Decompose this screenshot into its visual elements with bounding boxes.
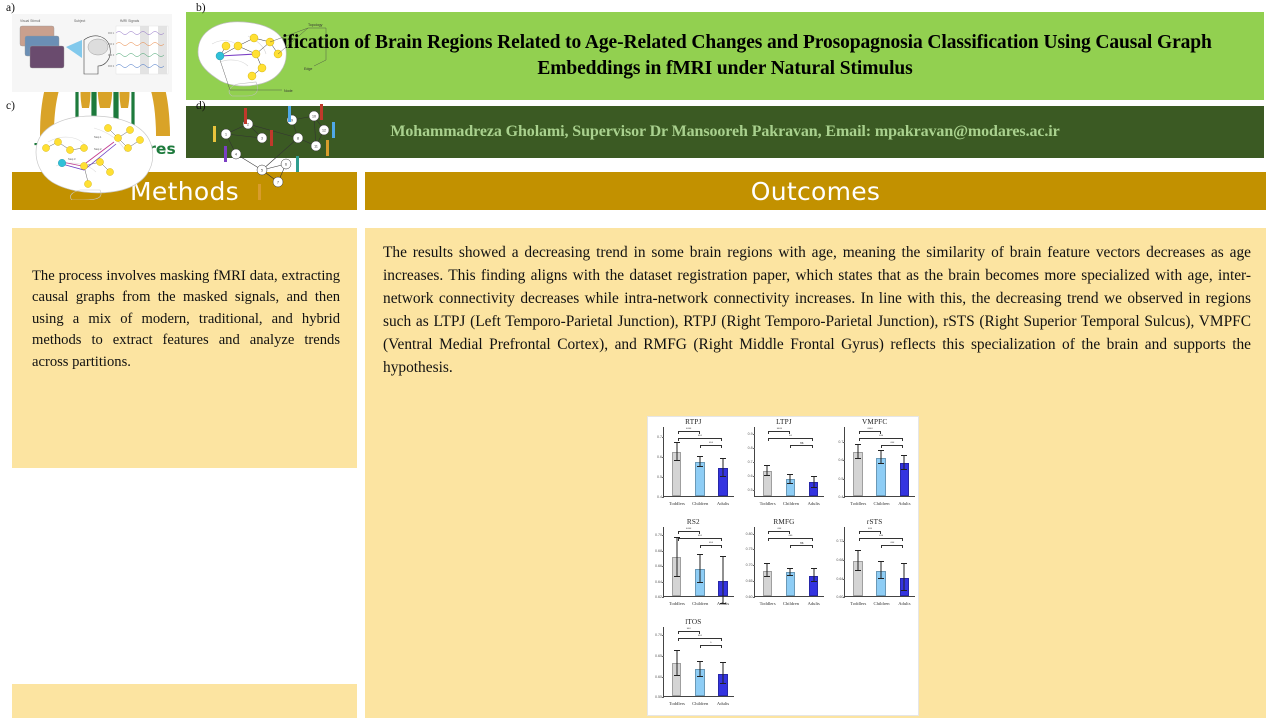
chart-panel-title: LTPJ [740, 419, 829, 426]
y-tick-label: 0.8 [748, 446, 753, 450]
y-tick-label: 0.70 [655, 533, 662, 537]
x-axis [754, 596, 825, 597]
x-tick-label: Children [783, 601, 798, 606]
y-tick-label: 0.4 [838, 495, 843, 499]
significance-bracket [768, 431, 790, 434]
svg-text:ROI 3: ROI 3 [108, 54, 115, 57]
y-tick-label: 0.7 [748, 460, 753, 464]
error-bar [676, 443, 677, 461]
significance-label: *** [879, 534, 883, 538]
x-axis [844, 496, 915, 497]
x-tick-label: Children [783, 501, 798, 506]
error-bar [904, 456, 905, 471]
error-cap-top [720, 556, 726, 557]
svg-text:3: 3 [261, 136, 263, 140]
significance-bracket [678, 531, 700, 534]
poster-canvas: Tarbiat Modares University Identificatio… [0, 0, 1280, 720]
error-cap-bottom [878, 578, 884, 579]
chart-panel-title: lTOS [649, 619, 738, 626]
svg-text:11: 11 [314, 144, 318, 148]
y-tick-label: 0.6 [657, 455, 662, 459]
error-cap-top [697, 554, 703, 555]
x-axis [844, 596, 915, 597]
error-bar [723, 663, 724, 684]
significance-bracket [678, 638, 723, 641]
y-tick-label: 0.72 [836, 539, 843, 543]
x-tick-label: Adults [806, 601, 821, 606]
significance-bracket [768, 538, 813, 541]
chart-panel-empty [829, 617, 920, 717]
error-cap-top [878, 561, 884, 562]
methods-figure-b-node-label: Node [284, 89, 293, 93]
error-cap-top [674, 442, 680, 443]
svg-text:Subject: Subject [74, 19, 85, 23]
error-cap-bottom [811, 487, 817, 488]
svg-text:ROI 2: ROI 2 [108, 43, 115, 46]
x-axis [754, 496, 825, 497]
bar-rect [695, 462, 704, 496]
y-tick-label: 0.62 [655, 595, 662, 599]
error-cap-top [720, 662, 726, 663]
x-tick-label: Adults [715, 701, 730, 706]
y-tick-label: 0.60 [746, 595, 753, 599]
y-tick-label: 0.70 [746, 563, 753, 567]
y-tick-label: 0.9 [748, 432, 753, 436]
significance-bracket [881, 445, 903, 448]
error-cap-top [878, 450, 884, 451]
y-tick-label: 0.66 [655, 564, 662, 568]
y-axis [754, 527, 755, 597]
significance-bracket [790, 445, 812, 448]
error-bar [699, 662, 700, 677]
error-cap-bottom [697, 676, 703, 677]
x-tick-label: Adults [897, 501, 912, 506]
error-cap-top [901, 455, 907, 456]
significance-label: * [710, 641, 711, 645]
methods-figure-b-topology-label: Topology [308, 23, 323, 27]
svg-text:ROI 1: ROI 1 [108, 32, 115, 35]
error-cap-bottom [901, 469, 907, 470]
significance-label: *** [789, 534, 793, 538]
y-tick-label: 0.6 [838, 458, 843, 462]
error-cap-bottom [697, 466, 703, 467]
svg-text:1: 1 [225, 132, 227, 136]
chart-x-labels: ToddlersChildrenAdults [846, 501, 916, 506]
methods-figure-c-step2-label: Step 2 [94, 147, 102, 151]
y-tick-label: 0.5 [838, 477, 843, 481]
error-bar [857, 551, 858, 572]
significance-label: *** [698, 634, 702, 638]
error-cap-top [764, 563, 770, 564]
y-tick-label: 0.68 [655, 549, 662, 553]
y-tick-label: 0.64 [655, 580, 662, 584]
significance-label: **** [867, 427, 872, 431]
svg-text:7: 7 [277, 180, 279, 184]
y-tick-label: 0.75 [746, 547, 753, 551]
methods-figure-label-c: c) [6, 100, 15, 112]
error-bar [904, 564, 905, 590]
significance-label: **** [686, 527, 691, 531]
svg-text:5: 5 [261, 168, 263, 172]
x-tick-label: Adults [715, 601, 730, 606]
y-tick-label: 0.6 [748, 474, 753, 478]
methods-bottom-panel [12, 684, 357, 718]
chart-panel-vmpfc: VMPFC0.40.50.60.7**********ToddlersChild… [829, 417, 920, 517]
x-tick-label: Toddlers [669, 601, 684, 606]
chart-x-labels: ToddlersChildrenAdults [665, 501, 735, 506]
chart-plot-area: 0.600.650.700.750.80******nsToddlersChil… [740, 527, 829, 597]
significance-bracket [881, 545, 903, 548]
significance-label: *** [890, 541, 894, 545]
y-tick-label: 0.5 [657, 475, 662, 479]
x-tick-label: Adults [897, 601, 912, 606]
significance-bracket [859, 531, 881, 534]
poster-authors: Mohammadreza Gholami, Supervisor Dr Mans… [390, 123, 1059, 141]
chart-panel-title: RMFG [740, 519, 829, 526]
significance-label: *** [709, 541, 713, 545]
significance-bracket [859, 438, 904, 441]
significance-label: *** [879, 434, 883, 438]
y-tick-label: 0.4 [657, 495, 662, 499]
y-tick-label: 0.60 [655, 675, 662, 679]
significance-bracket [678, 631, 700, 634]
error-cap-bottom [720, 683, 726, 684]
methods-figure-b-edge-label: Edge [304, 67, 312, 71]
y-axis [663, 527, 664, 597]
methods-figure-c-step1-label: Step 1 [94, 135, 102, 139]
error-cap-bottom [697, 582, 703, 583]
x-axis [663, 496, 734, 497]
significance-label: ns [800, 541, 804, 545]
chart-panel-title: RS2 [649, 519, 738, 526]
methods-body-text: The process involves masking fMRI data, … [32, 266, 340, 373]
x-tick-label: Toddlers [850, 601, 865, 606]
error-cap-bottom [878, 463, 884, 464]
chart-panel-title: rSTS [830, 519, 919, 526]
y-tick-label: 0.65 [746, 579, 753, 583]
error-cap-top [674, 650, 680, 651]
poster-title-bar: Identification of Brain Regions Related … [186, 12, 1264, 100]
y-tick-label: 0.7 [657, 435, 662, 439]
chart-panel-ltos: lTOS0.550.600.650.70*******ToddlersChild… [648, 617, 739, 717]
svg-text:2: 2 [247, 122, 249, 126]
error-cap-bottom [674, 576, 680, 577]
y-axis [844, 527, 845, 597]
chart-panel-ltpj: LTPJ0.50.60.70.80.9******nsToddlersChild… [739, 417, 830, 517]
chart-x-labels: ToddlersChildrenAdults [756, 601, 826, 606]
error-bar [676, 651, 677, 676]
svg-text:10: 10 [312, 114, 316, 118]
error-cap-bottom [811, 581, 817, 582]
error-bar [857, 445, 858, 460]
significance-label: **** [686, 427, 691, 431]
error-cap-bottom [764, 475, 770, 476]
error-bar [723, 557, 724, 604]
error-cap-top [697, 456, 703, 457]
methods-figure-b-brain-graph: Topology Edge Node [186, 12, 338, 98]
methods-figure-a-pipeline: Visual Stimuli Subject fMRI Signals [12, 14, 172, 92]
error-cap-bottom [764, 576, 770, 577]
y-tick-label: 0.68 [836, 558, 843, 562]
svg-text:fMRI Signals: fMRI Signals [120, 19, 140, 23]
x-tick-label: Adults [715, 501, 730, 506]
error-cap-bottom [674, 675, 680, 676]
chart-plot-area: 0.600.640.680.72*********ToddlersChildre… [830, 527, 919, 597]
error-cap-top [720, 458, 726, 459]
x-tick-label: Toddlers [850, 501, 865, 506]
significance-label: **** [777, 427, 782, 431]
significance-label: *** [777, 527, 781, 531]
chart-panel-grid: RTPJ0.40.50.60.7**********ToddlersChildr… [648, 417, 920, 717]
svg-text:ROI 4: ROI 4 [108, 65, 115, 68]
y-tick-label: 0.7 [838, 440, 843, 444]
significance-bracket [700, 645, 722, 648]
x-tick-label: Children [874, 601, 889, 606]
significance-label: *** [868, 527, 872, 531]
x-tick-label: Children [692, 501, 707, 506]
error-cap-top [855, 550, 861, 551]
chart-panel-rmfg: RMFG0.600.650.700.750.80******nsToddlers… [739, 517, 830, 617]
error-cap-top [901, 563, 907, 564]
error-cap-bottom [720, 476, 726, 477]
error-cap-top [855, 444, 861, 445]
error-cap-bottom [855, 570, 861, 571]
x-tick-label: Toddlers [669, 701, 684, 706]
error-cap-top [787, 568, 793, 569]
svg-text:12: 12 [322, 128, 326, 132]
significance-bracket [678, 431, 700, 434]
x-tick-label: Adults [806, 501, 821, 506]
y-tick-label: 0.60 [836, 595, 843, 599]
significance-label: *** [698, 534, 702, 538]
chart-x-labels: ToddlersChildrenAdults [665, 601, 735, 606]
methods-figure-c-step3-label: Step 3 [68, 157, 76, 161]
error-bar [699, 555, 700, 583]
chart-panel-rs2: RS20.620.640.660.680.70**********Toddler… [648, 517, 739, 617]
significance-bracket [700, 545, 722, 548]
chart-plot-area: 0.40.50.60.7**********ToddlersChildrenAd… [649, 427, 738, 497]
y-tick-label: 0.64 [836, 577, 843, 581]
significance-label: ns [800, 441, 804, 445]
chart-plot-area: 0.620.640.660.680.70**********ToddlersCh… [649, 527, 738, 597]
chart-x-labels: ToddlersChildrenAdults [846, 601, 916, 606]
significance-bracket [678, 438, 723, 441]
y-tick-label: 0.70 [655, 633, 662, 637]
significance-label: *** [890, 441, 894, 445]
significance-bracket [859, 431, 881, 434]
chart-panel-rtpj: RTPJ0.40.50.60.7**********ToddlersChildr… [648, 417, 739, 517]
error-cap-bottom [674, 460, 680, 461]
significance-bracket [700, 445, 722, 448]
error-bar [723, 459, 724, 477]
svg-text:6: 6 [285, 162, 287, 166]
section-header-outcomes-label: Outcomes [751, 179, 881, 204]
significance-bracket [768, 438, 813, 441]
error-cap-top [787, 474, 793, 475]
significance-bracket [790, 545, 812, 548]
outcomes-chart-figure: RTPJ0.40.50.60.7**********ToddlersChildr… [647, 416, 919, 716]
svg-text:Visual Stimuli: Visual Stimuli [20, 19, 41, 23]
error-bar [881, 562, 882, 579]
chart-plot-area: 0.550.600.650.70*******ToddlersChildrenA… [649, 627, 738, 697]
x-tick-label: Toddlers [760, 601, 775, 606]
error-cap-bottom [855, 458, 861, 459]
significance-bracket [768, 531, 790, 534]
error-bar [676, 538, 677, 577]
chart-plot-area: 0.50.60.70.80.9******nsToddlersChildrenA… [740, 427, 829, 497]
significance-label: *** [698, 434, 702, 438]
poster-authors-bar: Mohammadreza Gholami, Supervisor Dr Mans… [186, 106, 1264, 158]
methods-figure-c-causal-brain: Step 1 Step 2 Step 3 [22, 108, 182, 200]
error-cap-bottom [901, 590, 907, 591]
methods-figure-d-embedding-graph: 123 456 789 101112 [200, 100, 346, 202]
error-cap-bottom [787, 575, 793, 576]
x-tick-label: Children [692, 601, 707, 606]
svg-text:4: 4 [235, 152, 237, 156]
significance-label: *** [709, 441, 713, 445]
y-tick-label: 0.5 [748, 488, 753, 492]
y-axis [663, 627, 664, 697]
outcomes-panel: The results showed a decreasing trend in… [365, 228, 1266, 718]
x-axis [663, 696, 734, 697]
error-cap-top [764, 465, 770, 466]
y-tick-label: 0.65 [655, 654, 662, 658]
error-cap-top [697, 661, 703, 662]
methods-figure-label-a: a) [6, 2, 15, 14]
outcomes-body-text: The results showed a decreasing trend in… [383, 242, 1251, 380]
chart-plot-area: 0.40.50.60.7**********ToddlersChildrenAd… [830, 427, 919, 497]
chart-x-labels: ToddlersChildrenAdults [756, 501, 826, 506]
significance-label: *** [687, 627, 691, 631]
chart-x-labels: ToddlersChildrenAdults [665, 701, 735, 706]
chart-panel-title: RTPJ [649, 419, 738, 426]
poster-title: Identification of Brain Regions Related … [186, 30, 1264, 81]
svg-text:8: 8 [297, 136, 299, 140]
error-cap-top [811, 476, 817, 477]
x-tick-label: Toddlers [760, 501, 775, 506]
section-header-outcomes: Outcomes [365, 172, 1266, 210]
chart-panel-title: VMPFC [830, 419, 919, 426]
x-tick-label: Toddlers [669, 501, 684, 506]
x-tick-label: Children [874, 501, 889, 506]
y-axis [844, 427, 845, 497]
x-tick-label: Children [692, 701, 707, 706]
significance-label: ** [789, 434, 792, 438]
methods-text-panel: The process involves masking fMRI data, … [12, 228, 357, 468]
chart-panel-empty [739, 617, 830, 717]
chart-panel-rsts: rSTS0.600.640.680.72*********ToddlersChi… [829, 517, 920, 617]
significance-bracket [859, 538, 904, 541]
y-tick-label: 0.80 [746, 532, 753, 536]
error-cap-bottom [787, 483, 793, 484]
significance-bracket [678, 538, 723, 541]
error-cap-top [811, 568, 817, 569]
y-tick-label: 0.55 [655, 695, 662, 699]
svg-text:9: 9 [291, 118, 293, 122]
